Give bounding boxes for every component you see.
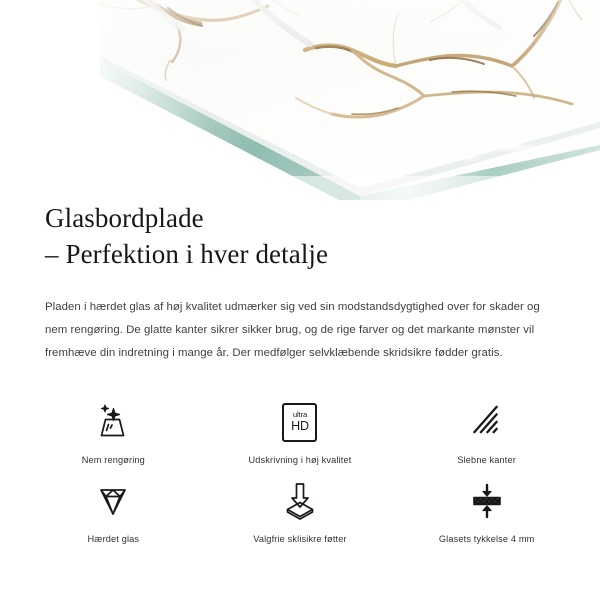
feature-item-antislip-feet: Valgfrie sklisikre føtter [207, 479, 394, 544]
feature-label: Hærdet glas [87, 534, 139, 544]
feature-item-glass-thickness: Glasets tykkelse 4 mm [393, 479, 580, 544]
page-title: Glasbordplade – Perfektion i hver detalj… [45, 200, 557, 272]
edge-specular-highlight [478, 141, 546, 153]
content-block: Glasbordplade – Perfektion i hver detalj… [45, 200, 557, 365]
feature-item-polished-edges: Slebne kanter [393, 400, 580, 465]
diamond-icon [92, 479, 134, 523]
badge-main-text: HD [291, 420, 309, 433]
ultra-hd-badge-icon: ultra HD [282, 400, 317, 444]
feature-label: Glasets tykkelse 4 mm [439, 534, 535, 544]
headline-line-1: Glasbordplade [45, 203, 204, 233]
feature-item-tempered-glass: Hærdet glas [20, 479, 207, 544]
arrow-onto-pad-icon [279, 479, 321, 523]
feature-label: Udskrivning i høj kvalitet [249, 455, 352, 465]
diagonal-stripes-icon [467, 400, 507, 444]
headline-line-2: – Perfektion i hver detalje [45, 236, 557, 272]
feature-item-print-quality: ultra HD Udskrivning i høj kvalitet [207, 400, 394, 465]
feature-label: Nem rengøring [82, 455, 145, 465]
thickness-arrows-icon [466, 479, 508, 523]
sparkle-glass-icon [92, 400, 134, 444]
feature-item-easy-cleaning: Nem rengøring [20, 400, 207, 465]
feature-label: Slebne kanter [457, 455, 516, 465]
description-paragraph: Pladen i hærdet glas af høj kvalitet udm… [45, 272, 545, 364]
glass-tabletop-marble-photo [0, 0, 600, 200]
feature-grid: Nem rengøring ultra HD Udskrivning i høj… [20, 400, 580, 544]
feature-label: Valgfrie sklisikre føtter [253, 534, 346, 544]
badge-top-text: ultra [293, 411, 307, 419]
edge-specular-highlight-2 [454, 154, 486, 162]
hero-product-image [0, 0, 600, 200]
